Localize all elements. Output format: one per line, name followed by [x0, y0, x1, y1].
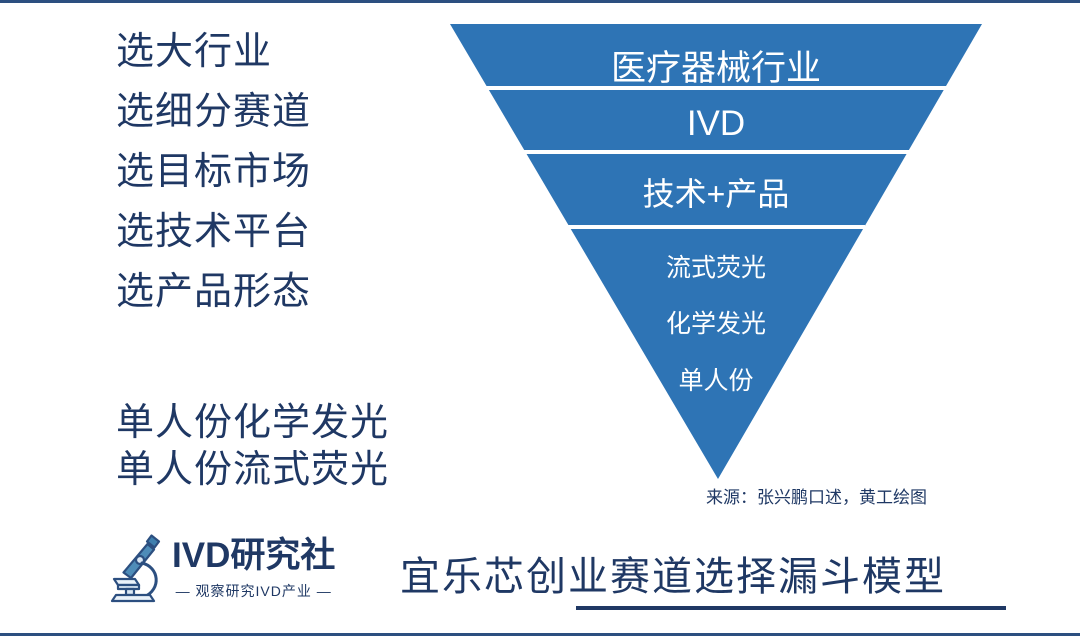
outcome-list: 单人份化学发光 单人份流式荧光: [116, 400, 456, 494]
funnel-segment-label: 医疗器械行业: [450, 40, 982, 91]
funnel-segment-label: IVD: [450, 104, 982, 144]
step-item: 选技术平台: [116, 202, 446, 262]
step-item: 选大行业: [116, 22, 446, 82]
brand-name: IVD研究社: [172, 535, 335, 577]
source-note: 来源：张兴鹏口述，黄工绘图: [706, 483, 927, 508]
step-item: 选产品形态: [116, 262, 446, 322]
step-item: 选目标市场: [116, 142, 446, 202]
microscope-icon: [104, 531, 166, 605]
outcome-item: 单人份流式荧光: [116, 447, 456, 494]
brand-logo: IVD研究社 — 观察研究IVD产业 —: [104, 531, 335, 605]
page-title: 宜乐芯创业赛道选择漏斗模型: [400, 544, 946, 602]
brand-text-group: IVD研究社 — 观察研究IVD产业 —: [172, 535, 335, 601]
funnel-segment-label: 单人份: [450, 361, 982, 397]
funnel-segment-label: 化学发光: [450, 304, 982, 340]
top-rule: [0, 0, 1080, 3]
step-list: 选大行业 选细分赛道 选目标市场 选技术平台 选产品形态: [116, 22, 446, 322]
funnel-label-group: 医疗器械行业 IVD 技术+产品 流式荧光 化学发光 单人份: [450, 24, 982, 479]
funnel-diagram: 医疗器械行业 IVD 技术+产品 流式荧光 化学发光 单人份: [450, 24, 982, 479]
funnel-segment-label: 技术+产品: [450, 169, 982, 215]
step-item: 选细分赛道: [116, 82, 446, 142]
brand-tagline: — 观察研究IVD产业 —: [176, 581, 332, 601]
outcome-item: 单人份化学发光: [116, 400, 456, 447]
funnel-segment-label: 流式荧光: [450, 248, 982, 284]
title-underline: [576, 606, 1006, 610]
slide-canvas: 选大行业 选细分赛道 选目标市场 选技术平台 选产品形态 单人份化学发光 单人份…: [0, 0, 1080, 636]
